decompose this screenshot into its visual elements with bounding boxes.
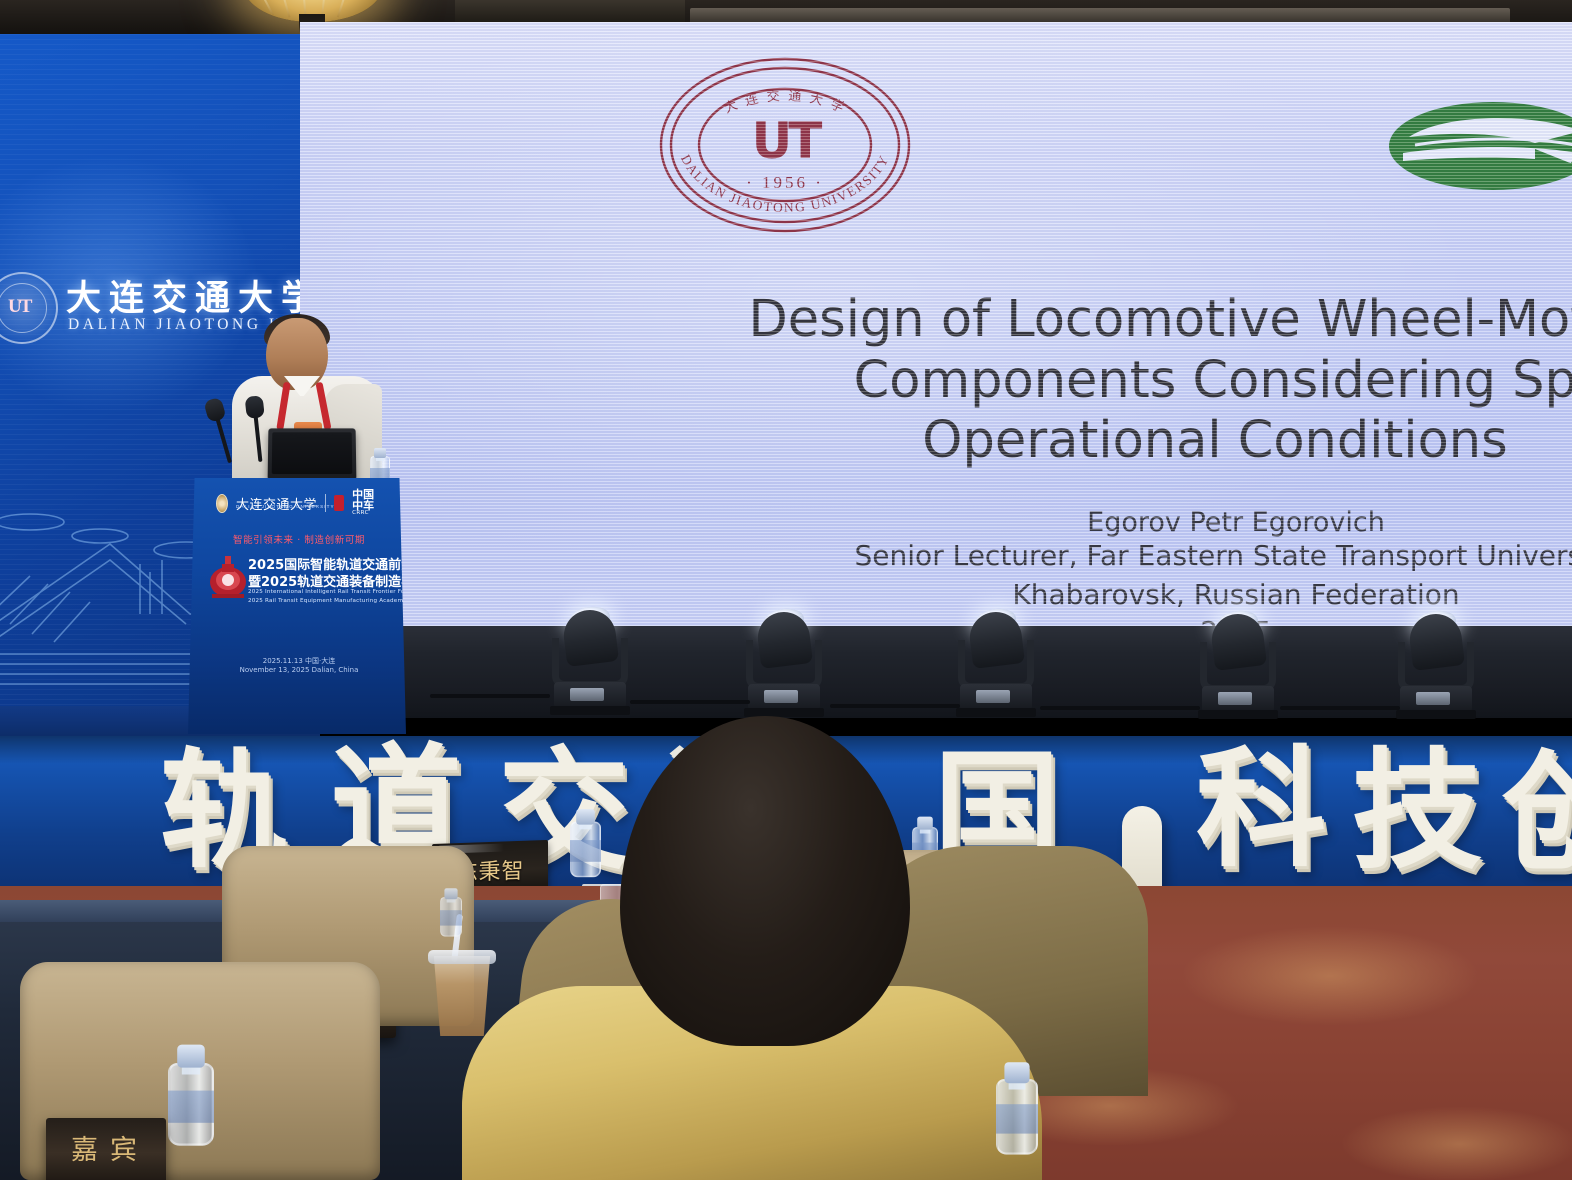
guest-placard: 嘉宾 [46, 1118, 166, 1180]
water-bottle-icon [168, 1040, 214, 1146]
moving-head-stage-light-icon [954, 612, 1038, 716]
moving-head-stage-light-icon [1394, 614, 1478, 718]
foam-character: 创 [1502, 748, 1572, 878]
presenter-location: Khabarovsk, Russian Federation [600, 574, 1572, 616]
crrc-mark-icon [334, 495, 345, 511]
fesrtu-green-ellipse-icon: R [1385, 91, 1572, 201]
water-bottle-icon [440, 886, 462, 937]
stage-cable [830, 704, 960, 708]
moving-head-stage-light-icon [742, 612, 826, 716]
slide-title-line3: Operational Conditions [720, 411, 1572, 472]
crrc-cn: 中国中车 [352, 488, 374, 512]
podium-university-name-cn: 大连交通大学 [236, 494, 317, 513]
conference-presentation-photo: UT 大连交通大学 DALIAN JIAOTONG UNIVERSITY UT … [0, 0, 1572, 1180]
podium-tagline: 智能引领未来 · 制造创新可期 [230, 532, 368, 546]
podium-university-name-en: DALIAN JIAOTONG UNIVERSITY [236, 504, 335, 509]
slide-title-line1: Design of Locomotive Wheel-Moto [660, 290, 1572, 351]
forum-emblem-icon [206, 550, 250, 600]
slide-title-line2: Components Considering Spec [780, 351, 1572, 412]
slide-title: Design of Locomotive Wheel-Moto Componen… [660, 290, 1572, 472]
stage-cable [430, 694, 550, 698]
water-bottle-icon [996, 1058, 1038, 1155]
stage-cable [630, 700, 750, 704]
speaking-podium: 大连交通大学 中国中车 CRRC DALIAN JIAOTONG UNIVERS… [188, 478, 406, 734]
djtu-seal-icon: UT [0, 272, 58, 344]
moving-head-stage-light-icon [1196, 614, 1280, 718]
foam-character: 技 [1352, 746, 1482, 876]
stage-cable [1040, 706, 1200, 710]
svg-text:· 1956 ·: · 1956 · [746, 173, 824, 192]
fesrtu-logo: R ДАЛЬНЕВОС ГОСУДАРСТ УНИВЕР ПУТЕЙ СООБ [1385, 77, 1572, 237]
stage-cable [1280, 706, 1400, 710]
podium-date-en: November 13, 2025 Dalian, China [224, 666, 374, 674]
svg-text:UT: UT [752, 112, 823, 170]
podium-logo-divider [325, 494, 326, 512]
podium-djtu-seal-icon [216, 494, 228, 513]
guest-placard-text: 嘉宾 [52, 1128, 168, 1167]
podium-date-cn: 2025.11.13 中国·大连 [224, 656, 374, 666]
backdrop-university-name-cn: 大连交通大学 [66, 270, 324, 321]
iced-coffee-cup-icon [430, 928, 494, 1036]
presenter-name: Egorov Petr Egorovich [600, 506, 1572, 539]
presenter-affiliation: Senior Lecturer, Far Eastern State Trans… [600, 539, 1572, 573]
led-presentation-screen: UT · 1956 · 大 连 交 通 大 学 DALIAN JIAOTONG … [300, 22, 1572, 630]
crrc-wordmark: 中国中车 CRRC [352, 489, 378, 517]
djtu-round-seal-icon: UT · 1956 · 大 连 交 通 大 学 DALIAN JIAOTONG … [650, 50, 920, 240]
moving-head-stage-light-icon [548, 610, 632, 714]
podium-logo-row: 大连交通大学 中国中车 CRRC [216, 490, 378, 516]
foam-character: 科 [1196, 744, 1326, 874]
laptop-icon [268, 428, 357, 480]
podium-title-en-line1: 2025 International Intelligent Rail Tran… [248, 589, 416, 595]
